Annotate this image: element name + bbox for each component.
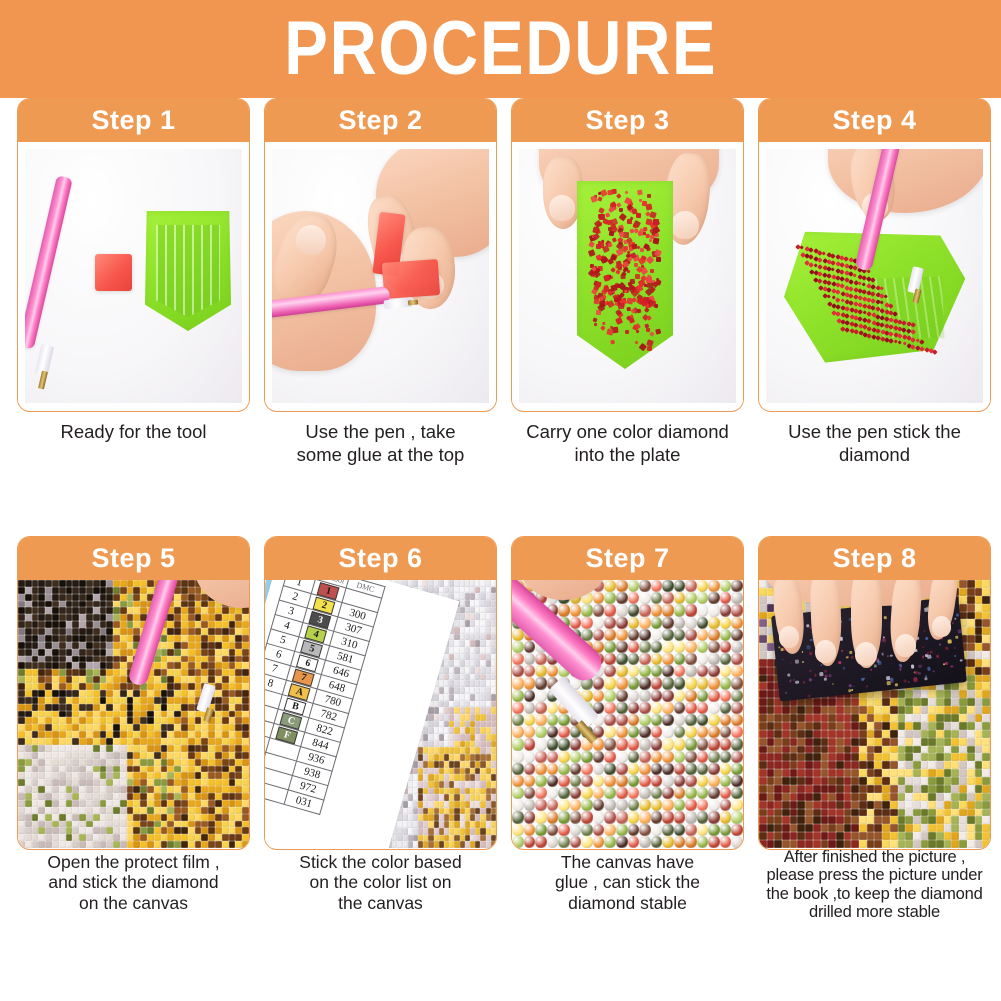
step-1-body xyxy=(18,142,249,410)
step-card-7: Step 7 The canvas have xyxy=(511,536,744,850)
step-6-label: Step 6 xyxy=(338,545,422,572)
step-card-3: Step 3 xyxy=(511,98,744,412)
step-6-header: Step 6 xyxy=(265,537,496,580)
step-1-label: Step 1 xyxy=(91,107,175,134)
step-1-photo xyxy=(25,149,242,403)
step-5-header: Step 5 xyxy=(18,537,249,580)
step-card-8: Step 8 xyxy=(758,536,991,850)
step-card-2: Step 2 xyxy=(264,98,497,412)
step-2-header: Step 2 xyxy=(265,99,496,142)
step-3-card: Step 3 xyxy=(511,98,744,412)
step-2-photo xyxy=(272,149,489,403)
step-card-5: Step 5 Open the protect xyxy=(17,536,250,850)
step-3-body xyxy=(512,142,743,410)
step-card-4: Step 4 xyxy=(758,98,991,412)
step-7-label: Step 7 xyxy=(585,545,669,572)
step-2-caption: Use the pen , take some glue at the top xyxy=(264,420,497,466)
step-5-caption: Open the protect film , and stick the di… xyxy=(17,852,250,913)
step-1-caption: Ready for the tool xyxy=(17,420,250,443)
step-8-caption: After finished the picture , please pres… xyxy=(758,848,991,922)
page-header-banner: PROCEDURE xyxy=(0,0,1001,98)
step-7-caption: The canvas have glue , can stick the dia… xyxy=(511,852,744,913)
step-1-card: Step 1 xyxy=(17,98,250,412)
step-7-card: Step 7 xyxy=(511,536,744,850)
steps-row-1: Step 1 xyxy=(0,98,1001,538)
color-chart-table: SerialSymbolDMC1122300333074431055581666… xyxy=(265,580,386,815)
step-5-body xyxy=(18,580,249,848)
step-4-caption: Use the pen stick the diamond xyxy=(758,420,991,466)
step-4-label: Step 4 xyxy=(832,107,916,134)
step-2-body xyxy=(265,142,496,410)
step-6-photo: SerialSymbolDMC1122300333074431055581666… xyxy=(265,580,496,848)
step-3-header: Step 3 xyxy=(512,99,743,142)
step-3-photo xyxy=(519,149,736,403)
step-4-card: Step 4 xyxy=(758,98,991,412)
step-8-header: Step 8 xyxy=(759,537,990,580)
step-5-photo xyxy=(18,580,249,848)
procedure-infographic: PROCEDURE Step 1 xyxy=(0,0,1001,1001)
step-1-header: Step 1 xyxy=(18,99,249,142)
step-8-label: Step 8 xyxy=(832,545,916,572)
step-2-card: Step 2 xyxy=(264,98,497,412)
step-4-header: Step 4 xyxy=(759,99,990,142)
diamond-scatter xyxy=(577,189,673,361)
step-8-photo xyxy=(759,580,990,848)
step-5-card: Step 5 xyxy=(17,536,250,850)
step-3-label: Step 3 xyxy=(585,107,669,134)
step-7-header: Step 7 xyxy=(512,537,743,580)
page-title: PROCEDURE xyxy=(284,11,717,87)
step-3-caption: Carry one color diamond into the plate xyxy=(511,420,744,466)
step-8-body xyxy=(759,580,990,848)
step-2-label: Step 2 xyxy=(338,107,422,134)
step-6-caption: Stick the color based on the color list … xyxy=(264,852,497,913)
step-6-card: Step 6 SerialSymbolDMC112230033307443105… xyxy=(264,536,497,850)
steps-row-2: Step 5 Open the protect xyxy=(0,536,1001,976)
step-4-photo xyxy=(766,149,983,403)
step-7-photo xyxy=(512,580,743,848)
step-4-body xyxy=(759,142,990,410)
sunflower-mosaic xyxy=(18,580,249,848)
step-5-label: Step 5 xyxy=(91,545,175,572)
step-card-1: Step 1 xyxy=(17,98,250,412)
glue-square xyxy=(95,254,132,291)
step-8-card: Step 8 xyxy=(758,536,991,850)
step-6-body: SerialSymbolDMC1122300333074431055581666… xyxy=(265,580,496,848)
step-card-6: Step 6 SerialSymbolDMC112230033307443105… xyxy=(264,536,497,850)
step-7-body xyxy=(512,580,743,848)
